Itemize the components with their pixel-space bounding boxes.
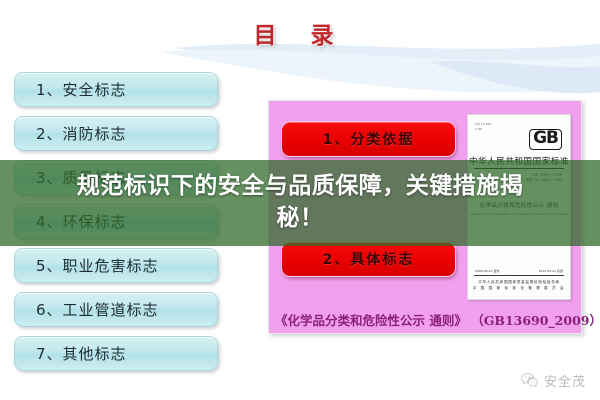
overlay-banner-text: 规范标识下的安全与品质保障，关键措施揭秘！ [65,171,535,234]
gb-logo: GB [529,129,562,150]
gb-issuer-line2: 中 国 国 家 标 准 化 管 理 委 员 会 [468,285,570,291]
toc-item-2[interactable]: 2、消防标志 [14,116,218,151]
toc-item-label: 2、消防标志 [15,123,127,144]
page-title-text: 目 录 [253,16,346,50]
gb-top-note-line1: ICS 13.300 [475,122,491,127]
red-button-specific-signs[interactable]: 2、具体标志 [281,241,456,277]
gb-issuer-block: 中华人民共和国国家质量监督检验检疫总局 中 国 国 家 标 准 化 管 理 委 … [468,279,570,291]
wechat-icon [520,371,539,390]
toc-item-7[interactable]: 7、其他标志 [14,336,218,371]
toc-item-6[interactable]: 6、工业管道标志 [14,292,218,327]
red-button-label: 2、具体标志 [323,249,415,269]
gb-issue-date: 2009-06-21 发布 [475,269,499,273]
red-button-label: 1、分类依据 [323,129,415,149]
red-button-classification-basis[interactable]: 1、分类依据 [281,121,456,157]
toc-item-label: 1、安全标志 [15,79,127,100]
watermark: 安全茂 [520,371,586,390]
watermark-label: 安全茂 [544,371,586,390]
gb-divider-bottom [474,275,564,276]
toc-item-1[interactable]: 1、安全标志 [14,72,218,107]
toc-item-label: 7、其他标志 [15,343,127,364]
toc-item-label: 5、职业危害标志 [15,255,159,276]
overlay-banner: 规范标识下的安全与品质保障，关键措施揭秘！ [0,160,600,246]
gb-top-note: ICS 13.300 A 80 [475,122,491,131]
toc-item-5[interactable]: 5、职业危害标志 [14,248,218,283]
toc-item-label: 6、工业管道标志 [15,299,159,320]
slide-canvas: 目 录 1、安全标志 2、消防标志 3、质量标志 4、环保标志 5、职业危害标志… [0,0,600,400]
gb-issuer-line1: 中华人民共和国国家质量监督检验检疫总局 [468,279,570,285]
page-title: 目 录 [0,16,600,50]
gb-top-note-line2: A 80 [475,127,491,132]
gb-effective-date: 2010-05-01 实施 [539,269,563,273]
pink-panel-caption: 《化学品分类和危险性公示 通则》 （GB13690_2009） [275,310,575,329]
